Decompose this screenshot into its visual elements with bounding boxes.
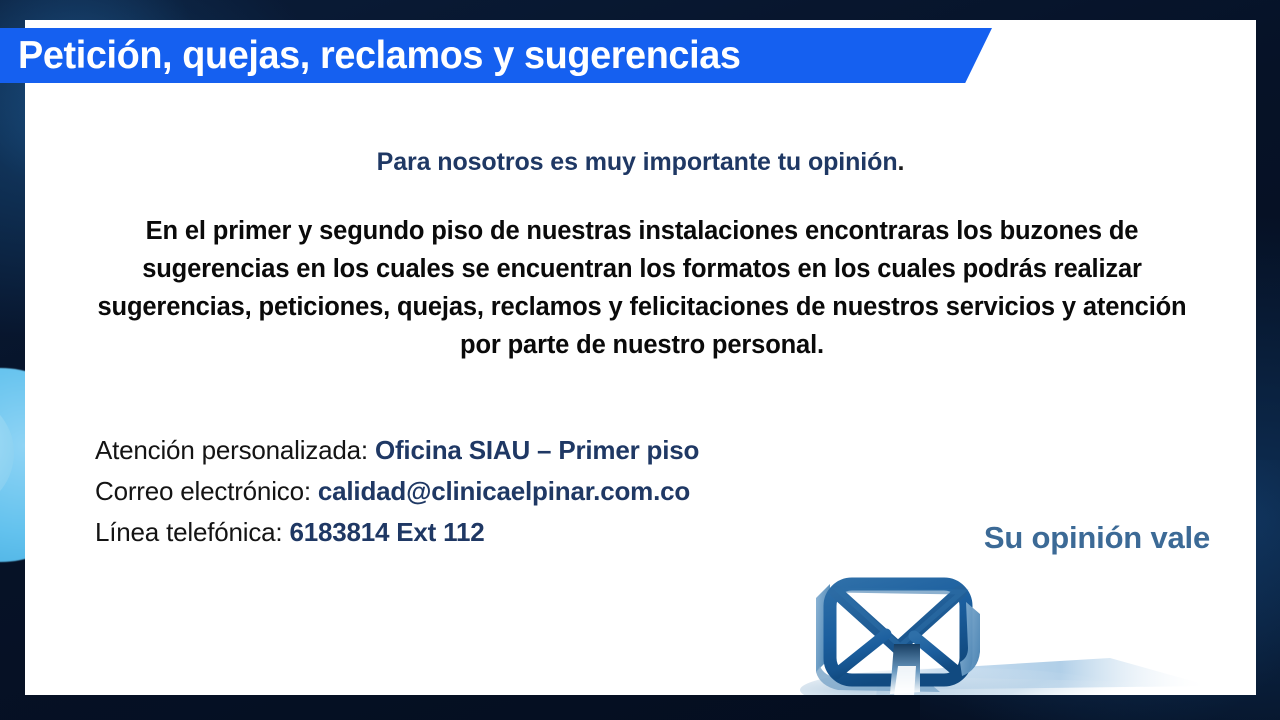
light-beam-upper [878, 658, 1210, 690]
envelope-flap-crease [838, 590, 962, 646]
envelope-extrusion-left [816, 584, 830, 672]
slide-canvas: Para nosotros es muy importante tu opini… [0, 0, 1280, 720]
contact-value-attention: Oficina SIAU – Primer piso [375, 435, 699, 465]
envelope-body-outline [830, 584, 966, 680]
lead-line-text: Para nosotros es muy importante tu opini… [377, 148, 898, 176]
content-panel: Para nosotros es muy importante tu opini… [25, 20, 1256, 695]
envelope-fold-left [836, 634, 886, 674]
body-paragraph: En el primer y segundo piso de nuestras … [77, 212, 1207, 364]
envelope-extrusion-right [960, 602, 980, 676]
envelope-artwork [790, 540, 1256, 695]
lead-line-period: . [898, 148, 905, 176]
lead-line: Para nosotros es muy importante tu opini… [25, 148, 1256, 177]
slide-title: Petición, quejas, reclamos y sugerencias [18, 34, 740, 78]
envelope-flap [836, 592, 960, 648]
contact-block: Atención personalizada: Oficina SIAU – P… [95, 430, 699, 553]
contact-row-attention: Atención personalizada: Oficina SIAU – P… [95, 430, 699, 471]
envelope-extrusion-base [816, 666, 940, 692]
contact-label-attention: Atención personalizada: [95, 435, 375, 465]
contact-value-email[interactable]: calidad@clinicaelpinar.com.co [318, 476, 690, 506]
contact-label-email: Correo electrónico: [95, 476, 318, 506]
contact-label-phone: Línea telefónica: [95, 517, 289, 547]
envelope-slot [890, 644, 920, 694]
contact-value-phone: 6183814 Ext 112 [289, 517, 484, 547]
envelope-fold-right [914, 636, 960, 674]
title-banner: Petición, quejas, reclamos y sugerencias [0, 28, 992, 83]
contact-row-phone: Línea telefónica: 6183814 Ext 112 [95, 512, 699, 553]
envelope-slot-glow [894, 666, 916, 695]
floor-shadow [800, 668, 1120, 695]
contact-row-email: Correo electrónico: calidad@clinicaelpin… [95, 471, 699, 512]
light-beam-lower [876, 676, 1150, 695]
envelope-icon [790, 540, 1256, 695]
tagline: Su opinión vale [984, 520, 1210, 556]
